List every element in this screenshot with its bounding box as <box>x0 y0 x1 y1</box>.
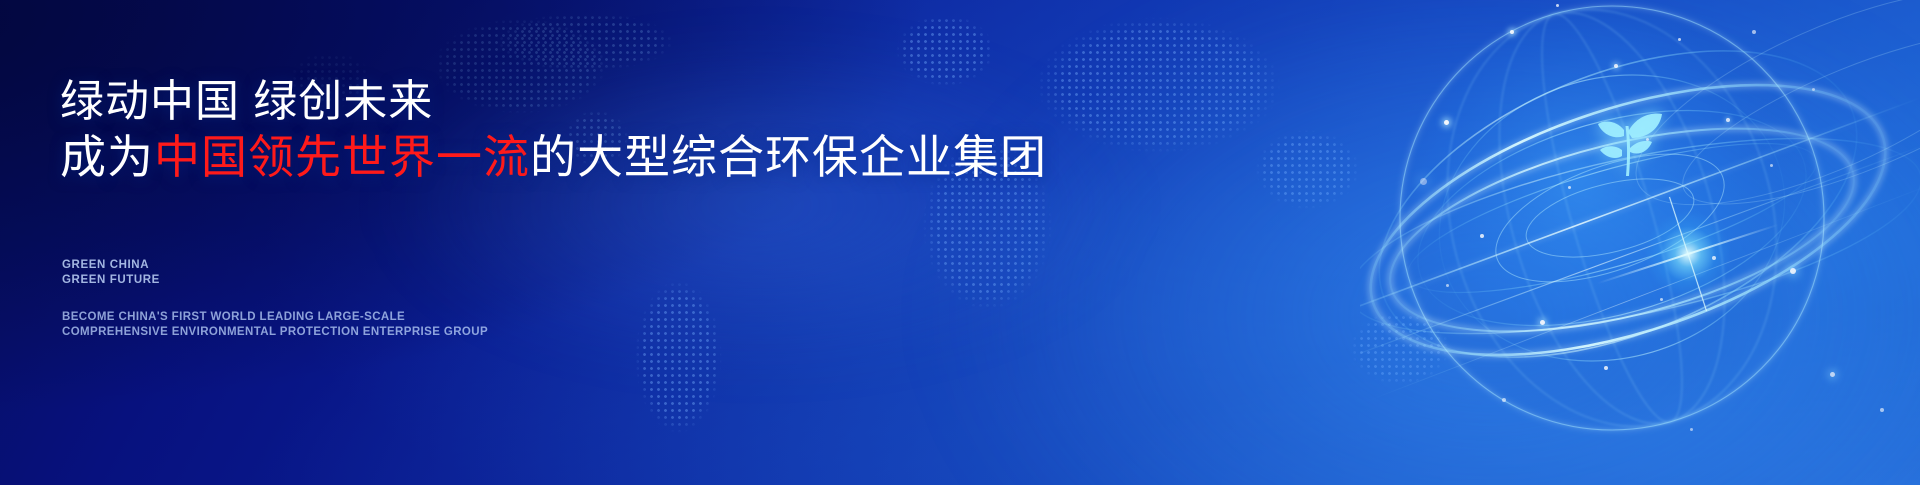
subline-slogan: BECOME CHINA'S FIRST WORLD LEADING LARGE… <box>62 310 488 340</box>
eyebrow-slogan: GREEN CHINA GREEN FUTURE <box>62 258 160 288</box>
headline-line-2-prefix: 成为 <box>60 131 154 183</box>
headline-line-2-suffix: 的大型综合环保企业集团 <box>530 131 1047 183</box>
headline-line-1: 绿动中国 绿创未来 <box>60 80 433 124</box>
eyebrow-line-2: GREEN FUTURE <box>62 273 160 288</box>
subline-line-1: BECOME CHINA'S FIRST WORLD LEADING LARGE… <box>62 310 488 325</box>
hero-banner: 绿动中国 绿创未来 成为中国领先世界一流的大型综合环保企业集团 GREEN CH… <box>0 0 1920 485</box>
particle-field <box>1360 0 1920 485</box>
eyebrow-line-1: GREEN CHINA <box>62 258 160 273</box>
wireframe-globe-graphic <box>1360 0 1920 485</box>
headline-line-2-highlight: 中国领先世界一流 <box>154 131 530 183</box>
headline-line-2: 成为中国领先世界一流的大型综合环保企业集团 <box>60 134 1047 180</box>
headline-line-1-text: 绿动中国 绿创未来 <box>60 77 433 126</box>
sprout-leaf-icon <box>1588 96 1666 180</box>
star-flare-icon <box>1628 194 1748 314</box>
copy-block: 绿动中国 绿创未来 成为中国领先世界一流的大型综合环保企业集团 GREEN CH… <box>60 0 1120 485</box>
subline-line-2: COMPREHENSIVE ENVIRONMENTAL PROTECTION E… <box>62 325 488 340</box>
